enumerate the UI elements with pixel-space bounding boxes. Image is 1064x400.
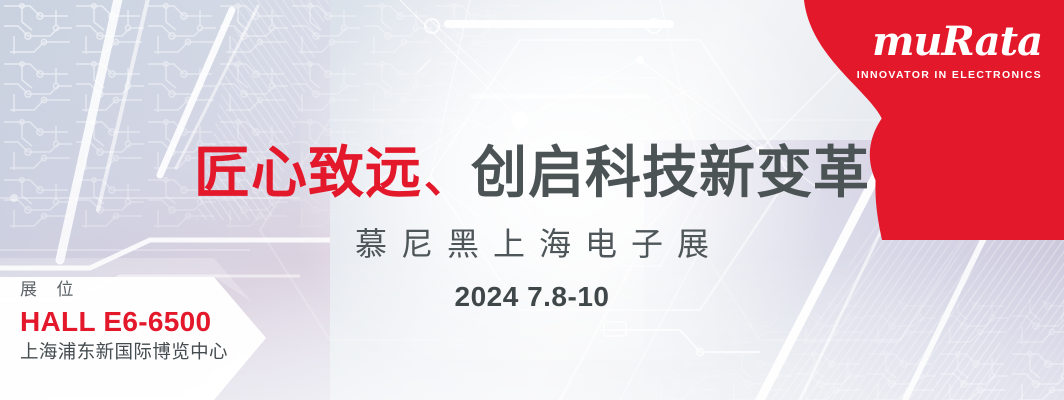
headline-separator-mark: 、 <box>422 152 471 203</box>
booth-info: 展 位 HALL E6-6500 上海浦东新国际博览中心 <box>20 282 228 363</box>
murata-wordmark: muRata <box>857 22 1042 62</box>
subtitle: 慕尼黑上海电子展 <box>0 228 1064 260</box>
booth-venue-name: 上海浦东新国际博览中心 <box>20 344 228 363</box>
booth-label: 展 位 <box>20 282 228 299</box>
headline: 匠心致远、创启科技新变革 <box>0 146 1064 202</box>
murata-logo: muRata INNOVATOR IN ELECTRONICS <box>857 22 1042 81</box>
murata-tagline: INNOVATOR IN ELECTRONICS <box>857 69 1042 81</box>
headline-dark-part: 创启科技新变革 <box>471 141 870 206</box>
booth-hall-number: HALL E6-6500 <box>20 308 228 336</box>
murata-exhibition-banner: muRata INNOVATOR IN ELECTRONICS 匠心致远、创启科… <box>0 0 1064 400</box>
headline-red-part: 匠心致远 <box>194 141 422 206</box>
